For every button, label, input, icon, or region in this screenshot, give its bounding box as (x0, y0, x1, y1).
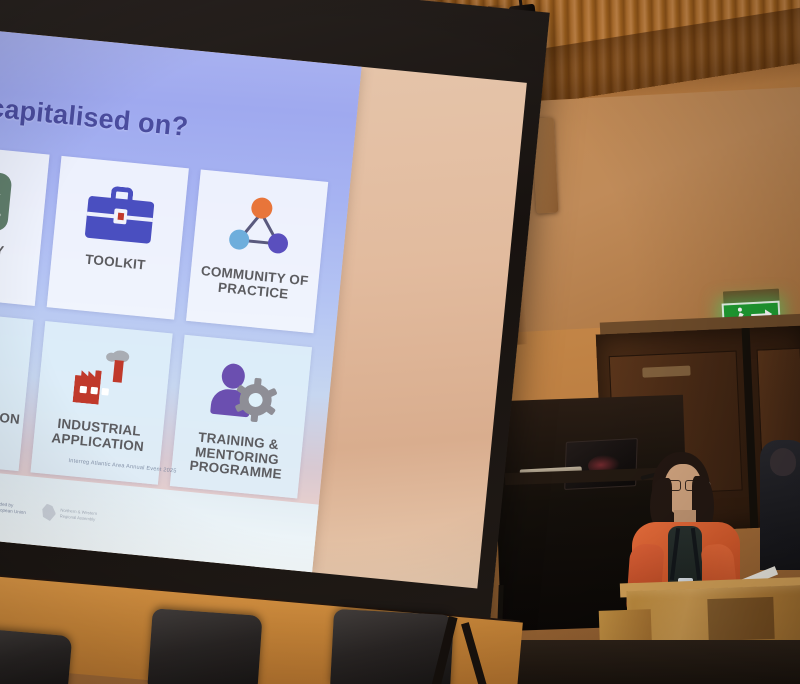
card-label: PECIFIC OLUTION (0, 401, 21, 427)
network-nodes-icon (225, 187, 294, 269)
factory-icon (69, 338, 138, 420)
card-label: TOOLKIT (85, 253, 147, 273)
card-toolkit: TOOLKIT (47, 156, 189, 320)
chair[interactable] (0, 628, 72, 684)
projection-screen-surface: be capitalised on? (0, 28, 527, 589)
conference-room-scene: be capitalised on? (0, 0, 800, 684)
card-strategy: RATEGY (0, 142, 50, 306)
card-label: INDUSTRIAL APPLICATION (33, 415, 163, 457)
door-mullion (742, 328, 759, 528)
lectern-shelf-recess (707, 597, 774, 641)
trend-arrow-icon (0, 179, 4, 209)
slide-title: be capitalised on? (0, 89, 354, 159)
co-funded-by-the-european-union-logo: Co-funded by the European Union (0, 496, 27, 517)
briefcase-icon (84, 173, 157, 255)
projection-screen-frame: be capitalised on? (0, 0, 550, 650)
person-gear-icon (209, 352, 278, 434)
growth-chart-icon (0, 160, 13, 241)
card-community-of-practice: COMMUNITY OF PRACTICE (186, 169, 328, 333)
card-label: RATEGY (0, 239, 5, 259)
government-partner-logo: Northern & Western Regional Assembly (41, 503, 97, 525)
gov-emblem-icon (41, 503, 57, 521)
presentation-slide: be capitalised on? (0, 28, 362, 573)
background-person-head (770, 448, 796, 476)
card-label: COMMUNITY OF PRACTICE (189, 263, 319, 305)
slide-card-grid: RATEGY TOOLKIT (0, 142, 350, 500)
card-specific-solution: PECIFIC OLUTION (0, 307, 33, 471)
door-closer-icon (642, 366, 690, 378)
chair[interactable] (147, 608, 262, 684)
floor (480, 640, 800, 684)
